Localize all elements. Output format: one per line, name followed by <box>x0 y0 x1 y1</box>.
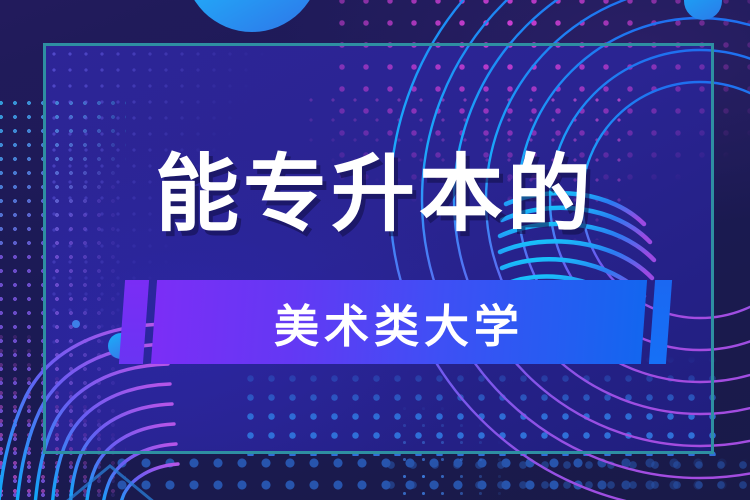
teal-frame-border <box>43 43 714 454</box>
poster-canvas: 能专升本的 美术类大学 <box>0 0 750 500</box>
subtitle-text: 美术类大学 <box>154 280 644 364</box>
subtitle-banner: 美术类大学 <box>0 276 750 372</box>
banner-accent-bar-right <box>649 280 672 364</box>
banner-accent-bar-left <box>119 280 149 364</box>
page-title: 能专升本的 <box>0 152 750 236</box>
